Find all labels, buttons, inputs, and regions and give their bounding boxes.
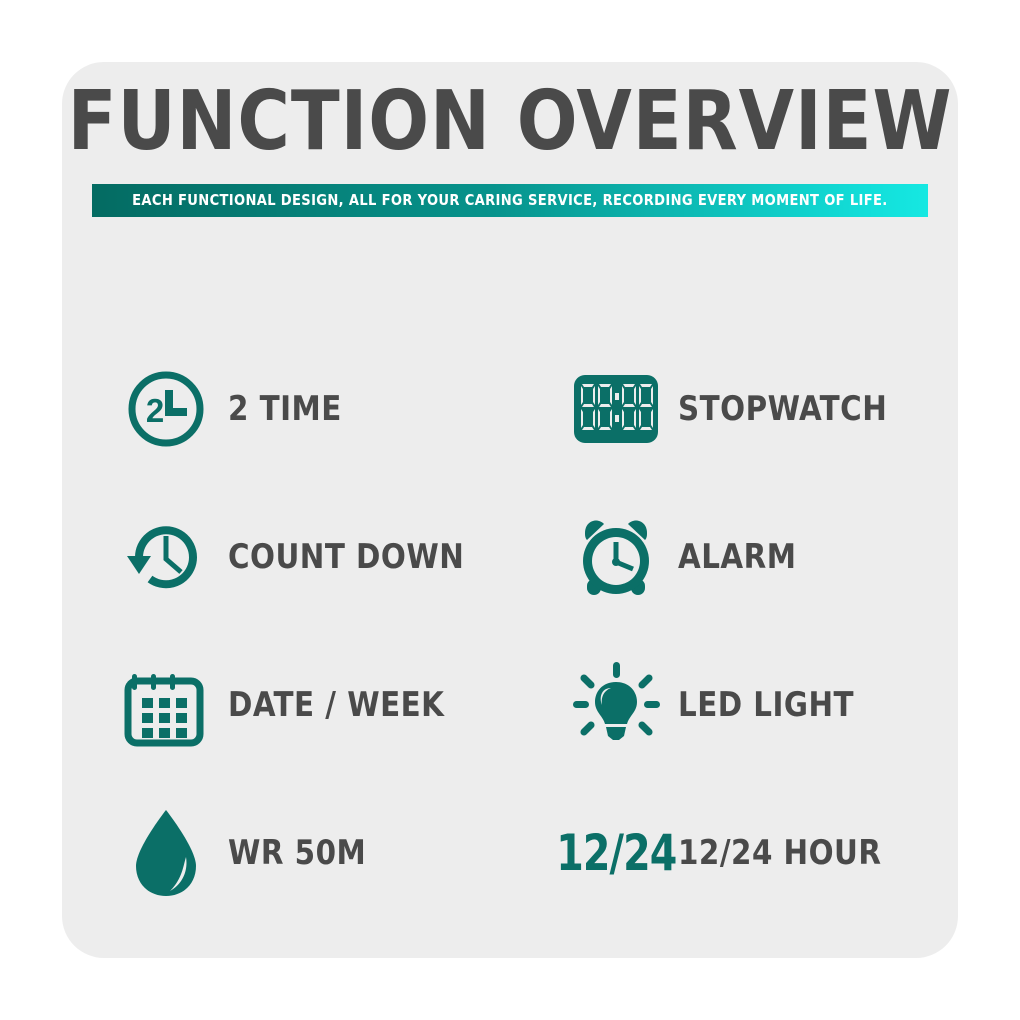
header: FUNCTION OVERVIEW EACH FUNCTIONAL DESIGN… xyxy=(0,82,1020,217)
countdown-clock-icon xyxy=(120,511,212,603)
feature-label: ALARM xyxy=(678,537,796,577)
light-bulb-icon xyxy=(570,659,662,751)
feature-label: WR 50M xyxy=(228,833,366,873)
twelve-twentyfour-icon-text: 12/24 xyxy=(556,824,676,882)
feature-label: 2 TIME xyxy=(228,389,342,429)
subtitle-banner: EACH FUNCTIONAL DESIGN, ALL FOR YOUR CAR… xyxy=(92,184,928,217)
function-overview-page: FUNCTION OVERVIEW EACH FUNCTIONAL DESIGN… xyxy=(0,0,1020,1020)
feature-label: 12/24 HOUR xyxy=(678,833,881,873)
digital-display-icon xyxy=(570,363,662,455)
subtitle-text: EACH FUNCTIONAL DESIGN, ALL FOR YOUR CAR… xyxy=(132,191,888,209)
feature-item-date-week[interactable]: DATE / WEEK xyxy=(120,631,570,779)
feature-label: COUNT DOWN xyxy=(228,537,464,577)
feature-label: STOPWATCH xyxy=(678,389,887,429)
feature-item-led-light[interactable]: LED LIGHT xyxy=(570,631,910,779)
two-time-clock-icon: 2 xyxy=(120,363,212,455)
feature-item-alarm[interactable]: ALARM xyxy=(570,483,910,631)
svg-text:2: 2 xyxy=(146,392,164,429)
alarm-clock-icon xyxy=(570,511,662,603)
feature-item-count-down[interactable]: COUNT DOWN xyxy=(120,483,570,631)
twelve-twentyfour-icon: 12/24 xyxy=(570,807,662,899)
feature-grid: 2 2 TIME xyxy=(120,335,910,927)
feature-item-wr-50m[interactable]: WR 50M xyxy=(120,779,570,927)
page-title: FUNCTION OVERVIEW xyxy=(15,82,1004,162)
calendar-icon xyxy=(120,659,212,751)
water-drop-icon xyxy=(120,807,212,899)
feature-label: DATE / WEEK xyxy=(228,685,444,725)
feature-item-stopwatch[interactable]: STOPWATCH xyxy=(570,335,910,483)
feature-label: LED LIGHT xyxy=(678,685,854,725)
feature-item-12-24-hour[interactable]: 12/24 12/24 HOUR xyxy=(570,779,910,927)
feature-item-2-time[interactable]: 2 2 TIME xyxy=(120,335,570,483)
